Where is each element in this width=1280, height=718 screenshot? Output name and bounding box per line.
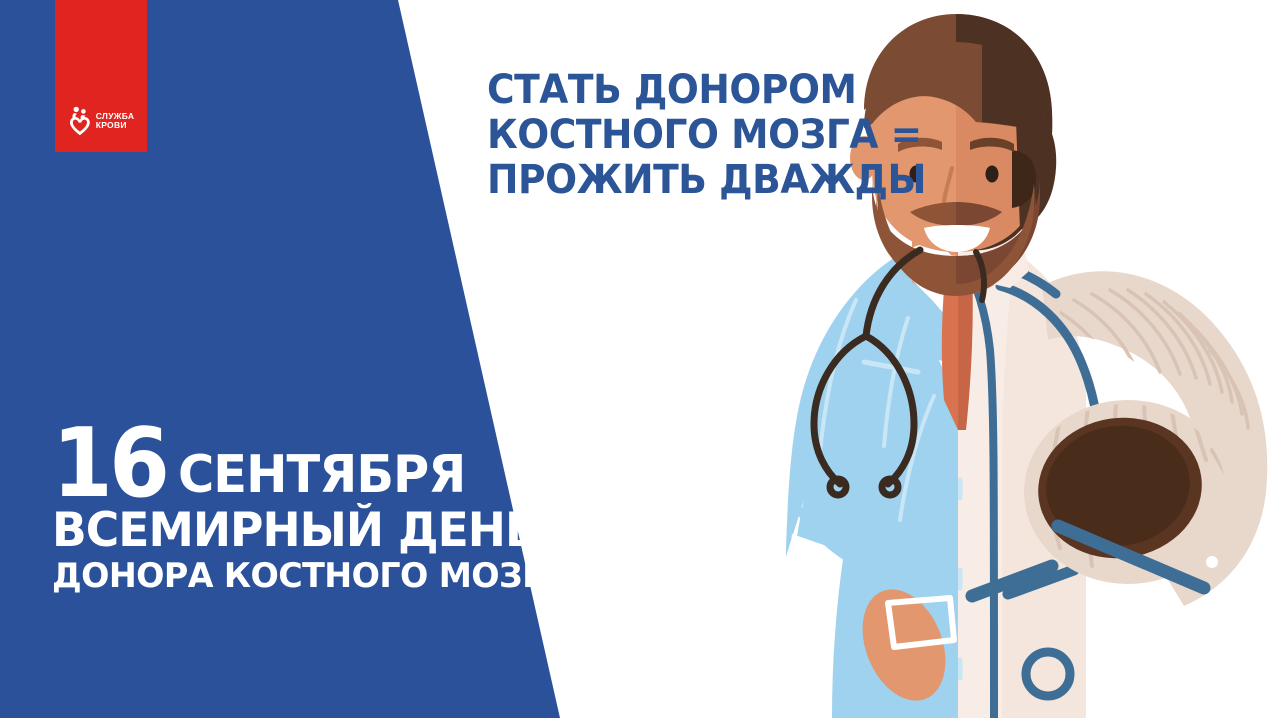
date-line-2: ВСЕМИРНЫЙ ДЕНЬ — [52, 507, 563, 555]
date-day: 16 — [52, 424, 166, 505]
headline: СТАТЬ ДОНОРОМ КОСТНОГО МОЗГА = ПРОЖИТЬ Д… — [487, 68, 926, 202]
logo-inner: СЛУЖБА КРОВИ — [68, 106, 135, 136]
date-block: 16 СЕНТЯБРЯ ВСЕМИРНЫЙ ДЕНЬ ДОНОРА КОСТНО… — [52, 424, 579, 594]
date-day-month-row: 16 СЕНТЯБРЯ — [52, 424, 579, 505]
doctor-coat — [772, 230, 961, 718]
headline-line-1: СТАТЬ ДОНОРОМ — [487, 68, 926, 113]
date-month: СЕНТЯБРЯ — [178, 451, 465, 500]
heart-with-two-figures-icon — [68, 106, 92, 136]
headline-line-3: ПРОЖИТЬ ДВАЖДЫ — [487, 158, 926, 203]
date-line-3: ДОНОРА КОСТНОГО МОЗГА — [52, 559, 568, 595]
blood-service-logo-block: СЛУЖБА КРОВИ — [55, 0, 147, 152]
headline-line-2: КОСТНОГО МОЗГА = — [487, 113, 926, 158]
logo-wordmark: СЛУЖБА КРОВИ — [96, 112, 135, 129]
logo-line-2: КРОВИ — [96, 121, 135, 130]
poster-canvas: СЛУЖБА КРОВИ СТАТЬ ДОНОРОМ КОСТНОГО МОЗГ… — [0, 0, 1280, 718]
